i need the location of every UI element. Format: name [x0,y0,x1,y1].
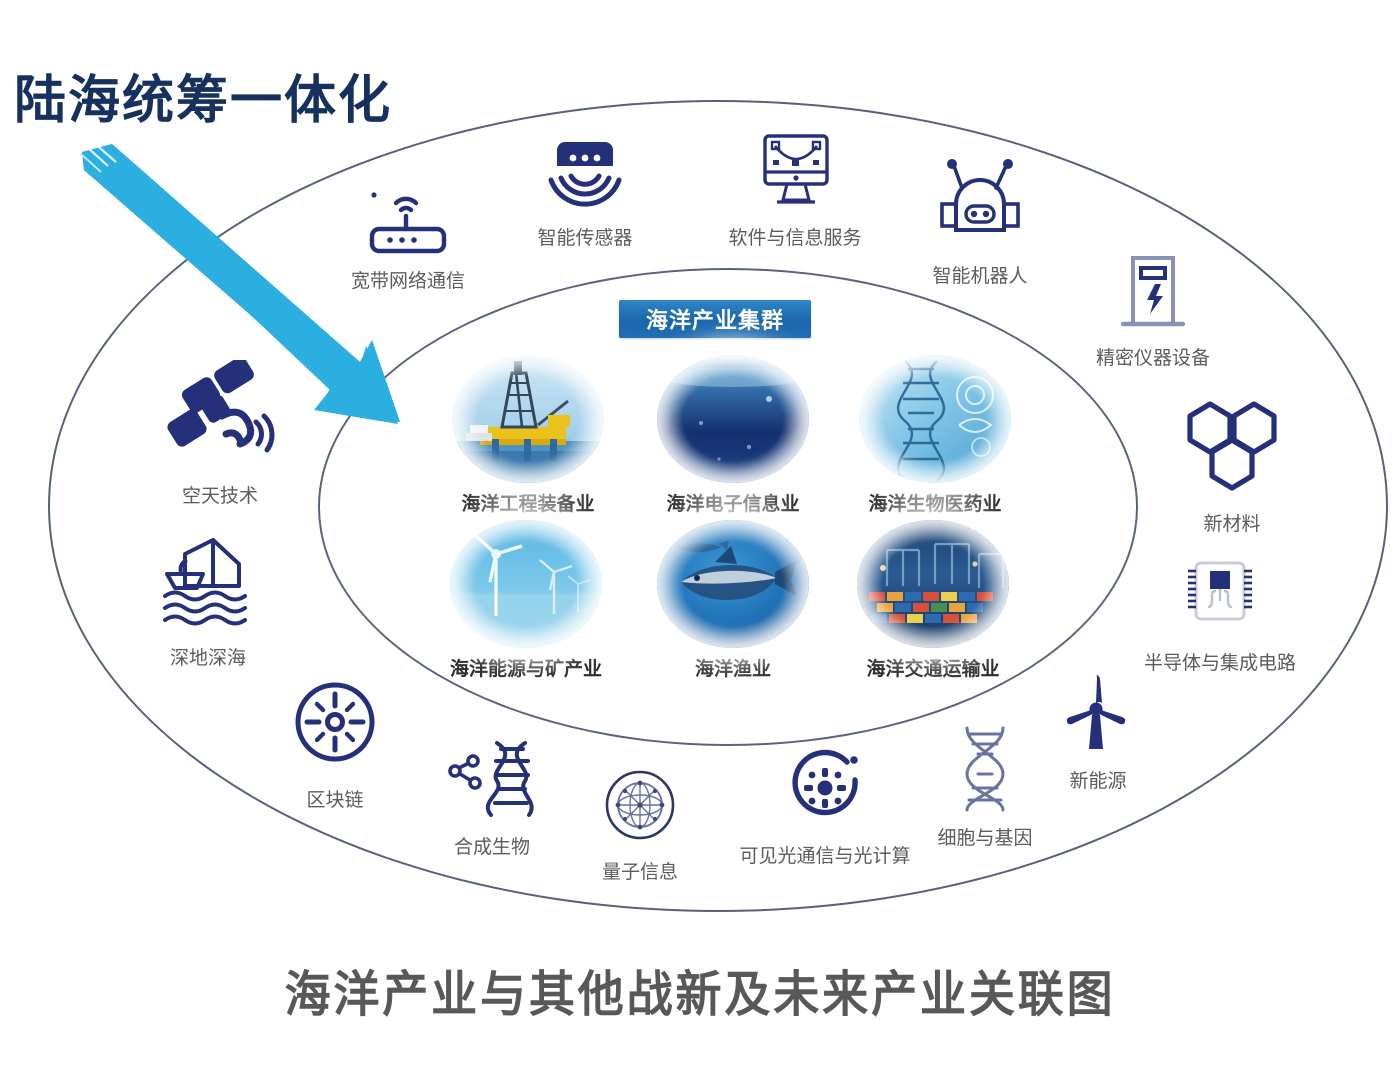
synthetic-bio-icon [412,735,572,828]
offshore-rig-photo [452,355,604,483]
node-label: 宽带网络通信 [318,266,498,293]
node-precision-instrument[interactable]: 精密仪器设备 [1063,246,1243,370]
cluster-item-offshore-engineering[interactable]: 海洋工程装备业 [440,355,616,516]
node-label: 可见光通信与光计算 [700,841,950,868]
offshore-wind-photo [450,520,602,648]
fish-photo [657,520,809,648]
deep-sea-vessel-icon [128,530,288,639]
node-smart-sensor[interactable]: 智能传感器 [495,132,675,250]
optical-computing-icon [700,742,950,837]
robot-icon [890,152,1070,257]
node-quantum-information[interactable]: 量子信息 [560,762,720,884]
cluster-badge: 海洋产业集群 [619,300,811,338]
node-label: 深地深海 [128,643,288,670]
node-semiconductor-ic[interactable]: 半导体与集成电路 [1105,555,1335,675]
node-software-information-service[interactable]: 软件与信息服务 [690,128,900,250]
deep-ocean-photo [657,355,809,483]
chip-icon [1105,555,1335,644]
blockchain-icon [255,680,415,781]
node-label: 智能传感器 [495,223,675,250]
node-label: 空天技术 [140,481,300,508]
node-label: 合成生物 [412,832,572,859]
cluster-item-label: 海洋电子信息业 [645,489,821,516]
node-deep-earth-deep-sea[interactable]: 深地深海 [128,530,288,670]
node-broadband-network[interactable]: 宽带网络通信 [318,185,498,293]
node-label: 量子信息 [560,857,720,884]
cluster-item-marine-electronics[interactable]: 海洋电子信息业 [645,355,821,516]
hexagon-molecule-icon [1142,392,1322,505]
smart-sensor-icon [495,132,675,219]
cluster-item-label: 海洋交通运输业 [845,654,1021,681]
port-terminal-photo [857,520,1009,648]
satellite-icon [140,360,300,477]
cluster-item-marine-transport[interactable]: 海洋交通运输业 [845,520,1021,681]
cluster-item-label: 海洋能源与矿产业 [438,654,614,681]
node-aerospace-technology[interactable]: 空天技术 [140,360,300,508]
node-blockchain[interactable]: 区块链 [255,680,415,812]
monitor-curve-icon [690,128,900,219]
precision-instrument-icon [1063,246,1243,339]
figure-caption: 海洋产业与其他战新及未来产业关联图 [42,955,1358,1026]
node-visible-light-communication[interactable]: 可见光通信与光计算 [700,742,950,868]
node-label: 精密仪器设备 [1063,343,1243,370]
node-new-materials[interactable]: 新材料 [1142,392,1322,536]
cluster-item-marine-biomedicine[interactable]: 海洋生物医药业 [847,355,1023,516]
node-label: 智能机器人 [890,261,1070,288]
node-synthetic-biology[interactable]: 合成生物 [412,735,572,859]
cluster-item-label: 海洋工程装备业 [440,489,616,516]
node-label: 新材料 [1142,509,1322,536]
node-intelligent-robot[interactable]: 智能机器人 [890,152,1070,288]
dna-biotech-photo [859,355,1011,483]
node-label: 区块链 [255,785,415,812]
cluster-item-label: 海洋生物医药业 [847,489,1023,516]
cluster-item-marine-energy[interactable]: 海洋能源与矿产业 [438,520,614,681]
cluster-item-label: 海洋渔业 [645,654,821,681]
headline-title: 陆海统筹一体化 [14,58,392,133]
router-wifi-icon [318,185,498,262]
node-label: 软件与信息服务 [690,223,900,250]
diagram-canvas: 陆海统筹一体化 海洋产业集群 [0,0,1400,1080]
cluster-item-marine-fishery[interactable]: 海洋渔业 [645,520,821,681]
quantum-atom-icon [560,762,720,853]
